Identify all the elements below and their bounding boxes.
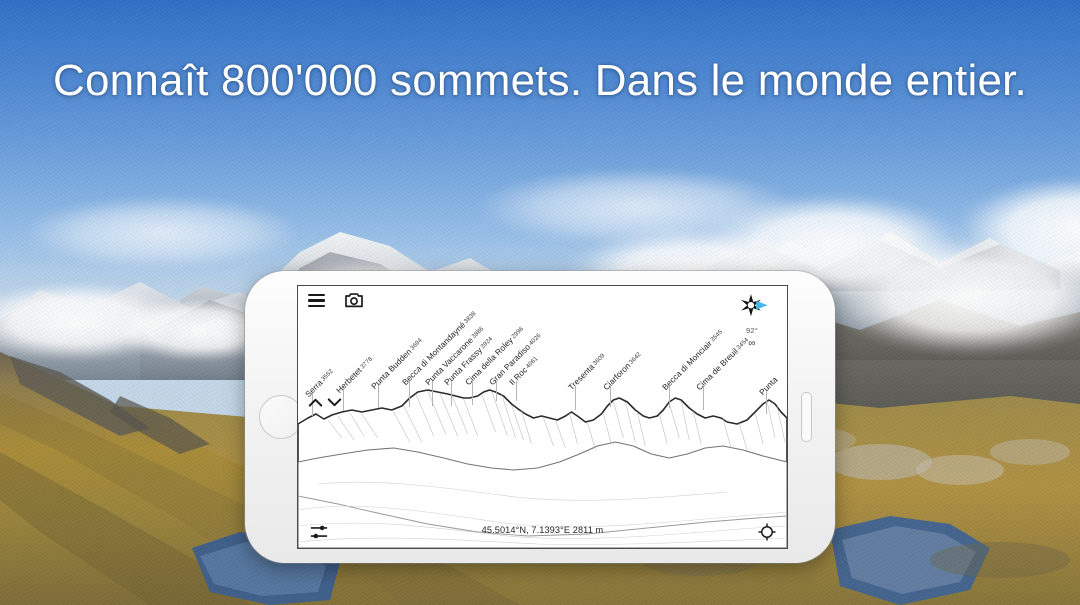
- earpiece-slot: [801, 392, 812, 442]
- compass-range: ∞: [725, 338, 779, 349]
- compass-rose-icon: [731, 291, 773, 320]
- app-topbar: [298, 286, 787, 312]
- promo-screenshot: Connaît 800'000 sommets. Dans le monde e…: [0, 0, 1080, 605]
- phone-screen: Serra3552Herbetet3778Punta Budden3694Bec…: [297, 285, 788, 549]
- crosshair-target-icon[interactable]: [758, 523, 776, 541]
- compass-widget[interactable]: 92° ∞: [725, 291, 779, 349]
- page-title: Connaît 800'000 sommets. Dans le monde e…: [0, 56, 1080, 106]
- chevron-down-icon[interactable]: [327, 398, 342, 407]
- camera-icon[interactable]: [344, 292, 364, 308]
- app-bottombar: 45.5014°N, 7.1393°E 2811 m: [298, 514, 787, 548]
- elevation-chevron-controls[interactable]: [308, 398, 342, 416]
- horizon-profile-drawing: [298, 286, 787, 548]
- phone-device: Serra3552Herbetet3778Punta Budden3694Bec…: [245, 271, 835, 563]
- hamburger-menu-icon[interactable]: [308, 294, 325, 307]
- chevron-up-icon[interactable]: [308, 398, 323, 407]
- coordinates-readout: 45.5014°N, 7.1393°E 2811 m: [298, 525, 787, 535]
- compass-bearing: 92°: [725, 326, 779, 335]
